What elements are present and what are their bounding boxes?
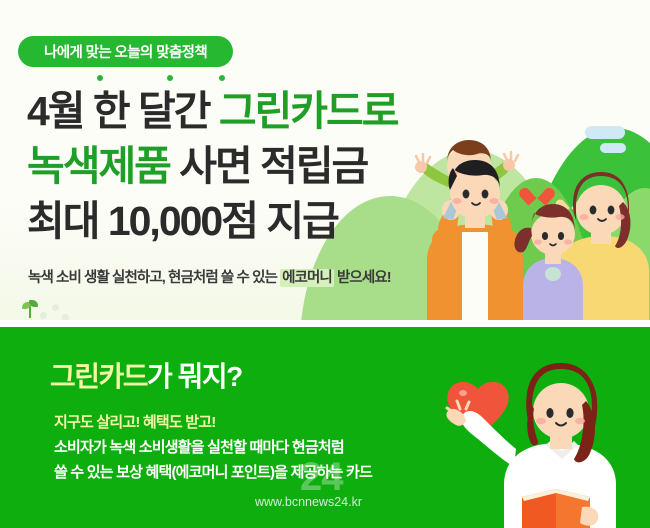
policy-badge: 나에게 맞는 오늘의 맞춤정책 xyxy=(18,36,233,67)
bottom-heading: 그린카드가 뭐지? xyxy=(50,355,242,395)
subtitle-before: 녹색 소비 생활 실천하고, 현금처럼 쓸 수 있는 xyxy=(28,270,280,286)
cloud-shape xyxy=(585,126,625,139)
bottom-heading-accent: 그린카드 xyxy=(50,361,147,392)
book-icon xyxy=(522,489,590,528)
headline-line-2-plain: 사면 적립금 xyxy=(170,143,367,189)
sprout-icon xyxy=(22,300,38,318)
subtitle: 녹색 소비 생활 실천하고, 현금처럼 쓸 수 있는 에코머니 받으세요! xyxy=(28,266,391,287)
bottom-subheading: 지구도 살리고! 혜택도 받고! xyxy=(54,411,216,432)
headline-line-3: 최대 10,000점 지급 xyxy=(27,194,397,249)
headline-line-1-accent: 그린카드로 xyxy=(219,84,398,139)
woman-holding-book-illustration xyxy=(430,335,650,528)
promo-poster: 나에게 맞는 오늘의 맞춤정책 4월 한 달간 그린카드로 녹색제품 사면 적립… xyxy=(0,0,650,528)
bottom-heading-rest: 가 뭐지? xyxy=(147,361,242,392)
bottom-body: 소비자가 녹색 소비생활을 실천할 때마다 현금처럼 쓸 수 있는 보상 혜택(… xyxy=(54,435,372,485)
family-of-four-illustration xyxy=(395,140,650,322)
headline-line-1-plain: 4월 한 달간 xyxy=(27,88,219,134)
bottom-body-line-2: 쓸 수 있는 보상 혜택(에코머니 포인트)을 제공하는 카드 xyxy=(54,460,372,485)
policy-badge-label: 나에게 맞는 오늘의 맞춤정책 xyxy=(44,41,207,62)
top-section: 나에게 맞는 오늘의 맞춤정책 4월 한 달간 그린카드로 녹색제품 사면 적립… xyxy=(0,0,650,322)
headline-block: 4월 한 달간 그린카드로 녹색제품 사면 적립금 최대 10,000점 지급 xyxy=(27,84,397,249)
dad-figure xyxy=(427,160,523,322)
petal-shape xyxy=(40,312,47,319)
headline-line-2: 녹색제품 사면 적립금 xyxy=(27,139,397,194)
subtitle-highlight: 에코머니 xyxy=(280,269,334,287)
bottom-body-line-1: 소비자가 녹색 소비생활을 실천할 때마다 현금처럼 xyxy=(54,435,372,460)
headline-line-2-accent: 녹색제품 xyxy=(27,139,170,194)
headline-line-1: 4월 한 달간 그린카드로 xyxy=(27,84,397,139)
section-divider xyxy=(0,320,650,327)
subtitle-after: 받으세요! xyxy=(334,270,391,286)
petal-shape xyxy=(52,304,59,311)
